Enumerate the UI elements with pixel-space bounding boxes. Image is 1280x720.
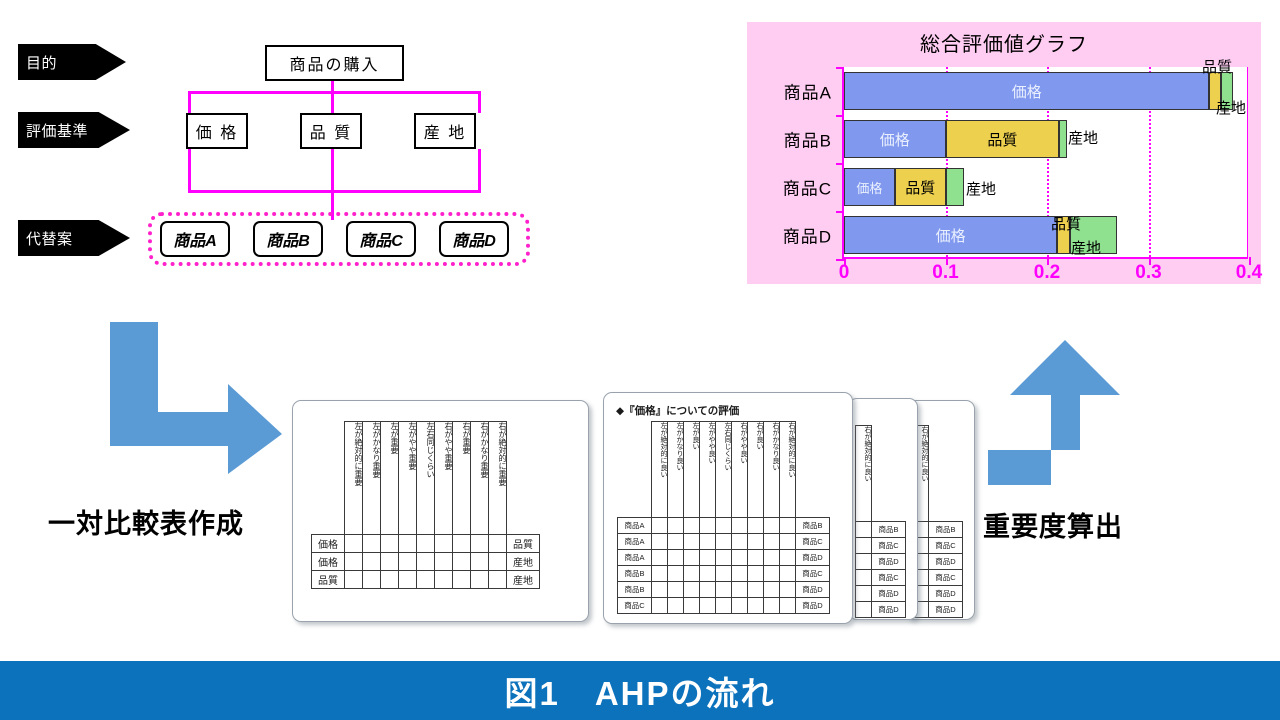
y-tick-4 [836, 259, 844, 261]
right-item-label: 商品D [929, 554, 963, 570]
rating-cell[interactable] [471, 571, 489, 589]
table-row[interactable]: 商品B 商品C [618, 566, 830, 582]
right-item-label: 産地 [507, 553, 540, 571]
left-item-label: 商品A [618, 550, 652, 566]
right-item-label: 商品D [872, 554, 906, 570]
left-item-label: 商品A [618, 518, 652, 534]
criteria-header-4: 左右同じくらい [417, 422, 435, 535]
chart-title: 総合評価値グラフ [747, 28, 1261, 57]
table-row[interactable]: 商品A 商品C [618, 534, 830, 550]
table-row[interactable]: 商品D [913, 602, 963, 618]
left-flow-label: 一対比較表作成 [48, 502, 244, 541]
table-row[interactable]: 商品C [913, 570, 963, 586]
y-tick-2 [836, 163, 844, 165]
criteria-header-1: 左がかなり重要 [363, 422, 381, 535]
stacked-card-back-2-table: 右が絶対的に良い 商品B 商品C 商品D 商品C 商品D 商品D [912, 425, 963, 618]
rating-cell[interactable] [780, 598, 796, 614]
bar-segment-c-quality-label: 品質 [905, 177, 935, 198]
level-tag-criteria: 評価基準 [18, 112, 130, 148]
left-item-header-spacer [618, 422, 652, 518]
node-criterion-price: 価 格 [186, 113, 248, 149]
bar-row-a: 価格 品質 産地 [844, 72, 1233, 110]
left-item-label: 商品B [618, 566, 652, 582]
rating-cell[interactable] [345, 553, 363, 571]
bar-segment-b-origin [1059, 120, 1067, 158]
rating-cell[interactable] [748, 550, 764, 566]
rating-cell[interactable] [435, 571, 453, 589]
table-row[interactable]: 商品C [913, 538, 963, 554]
rating-cell[interactable] [732, 582, 748, 598]
table-row[interactable]: 商品A 商品B [618, 518, 830, 534]
x-axis-label-2: 0.2 [1034, 262, 1060, 284]
rating-cell[interactable] [764, 550, 780, 566]
rating-cell[interactable] [652, 566, 668, 582]
right-item-label: 商品C [929, 570, 963, 586]
left-item-label: 価格 [312, 535, 345, 553]
bar-label-d-quality: 品質 [1051, 213, 1081, 234]
rating-cell[interactable] [471, 535, 489, 553]
node-alternative-c: 商品C [346, 221, 416, 257]
rating-cell[interactable] [668, 518, 684, 534]
rating-cell[interactable] [668, 598, 684, 614]
table-row[interactable]: 商品B [913, 522, 963, 538]
right-item-label: 商品D [929, 586, 963, 602]
y-tick-1 [836, 115, 844, 117]
node-criterion-quality: 品 質 [300, 113, 362, 149]
rating-cell[interactable] [716, 518, 732, 534]
alt-header-1: 左がかなり良い [668, 422, 684, 518]
rating-cell[interactable] [345, 571, 363, 589]
rating-cell[interactable] [716, 582, 732, 598]
rating-cell[interactable] [764, 582, 780, 598]
table-header-row: 左が絶対的に良い 左がかなり良い 左が良い 左がやや良い 左右同じくらい 右がや… [618, 422, 830, 518]
category-label-d: 商品D [783, 223, 832, 248]
rating-cell[interactable] [381, 553, 399, 571]
criteria-header-5: 右がやや重要 [435, 422, 453, 535]
rating-cell[interactable] [780, 582, 796, 598]
rating-cell[interactable] [856, 522, 872, 538]
rating-cell[interactable] [716, 534, 732, 550]
rating-cell[interactable] [764, 566, 780, 582]
rating-cell[interactable] [700, 518, 716, 534]
rating-cell[interactable] [652, 518, 668, 534]
rating-cell[interactable] [684, 518, 700, 534]
level-tag-goal: 目的 [18, 44, 126, 80]
bar-segment-a-price: 価格 [844, 72, 1209, 110]
rating-cell[interactable] [716, 598, 732, 614]
rating-cell[interactable] [489, 571, 507, 589]
criteria-header-8: 右が絶対的に重要 [489, 422, 507, 535]
table-row[interactable]: 商品C [856, 538, 906, 554]
rating-cell[interactable] [453, 571, 471, 589]
spacer-cell [872, 426, 906, 522]
rating-cell[interactable] [417, 535, 435, 553]
stacked-card-back-1[interactable]: 右が絶対的に良い 商品B 商品C 商品D 商品C 商品D 商品D [848, 398, 918, 620]
criteria-header-3: 左がやや重要 [399, 422, 417, 535]
rating-cell[interactable] [716, 566, 732, 582]
table-row[interactable]: 商品C 商品D [618, 598, 830, 614]
rating-cell[interactable] [453, 535, 471, 553]
table-row[interactable]: 商品B 商品D [618, 582, 830, 598]
rating-cell[interactable] [748, 534, 764, 550]
right-item-header-spacer [507, 422, 540, 535]
bar-segment-a-price-label: 価格 [1012, 81, 1042, 102]
alt-header-2: 左が良い [684, 422, 700, 518]
bar-segment-b-quality-label: 品質 [987, 129, 1017, 150]
table-row[interactable]: 価格 産地 [312, 553, 540, 571]
left-flow-arrow-icon [110, 322, 285, 474]
level-tag-criteria-label: 評価基準 [26, 120, 88, 141]
bar-label-d-origin: 産地 [1071, 237, 1101, 258]
chart-plot-area: 商品A 商品B 商品C 商品D 価格 品質 産地 価格 品質 産地 [842, 67, 1248, 259]
rating-cell[interactable] [748, 598, 764, 614]
rating-cell[interactable] [684, 566, 700, 582]
bar-segment-b-price-label: 価格 [880, 129, 910, 150]
rating-cell[interactable] [417, 553, 435, 571]
rating-cell[interactable] [856, 602, 872, 618]
rating-cell[interactable] [652, 550, 668, 566]
category-label-a: 商品A [784, 79, 832, 104]
alt-header-0: 左が絶対的に良い [652, 422, 668, 518]
alt-header-5: 右がやや良い [732, 422, 748, 518]
rating-cell[interactable] [700, 534, 716, 550]
rating-cell[interactable] [732, 550, 748, 566]
alt-header-7: 右がかなり良い [764, 422, 780, 518]
right-item-label: 商品D [796, 582, 830, 598]
figure-banner: 図1 AHPの流れ [0, 661, 1280, 720]
bar-label-a-origin: 産地 [1216, 97, 1246, 118]
y-tick-3 [836, 211, 844, 213]
link-origin-down [478, 149, 481, 193]
rating-cell[interactable] [732, 518, 748, 534]
table-header-row: 左が絶対的に重要 左がかなり重要 左が重要 左がやや重要 左右同じくらい 右がや… [312, 422, 540, 535]
rating-cell[interactable] [732, 534, 748, 550]
bar-label-b-origin: 産地 [1068, 127, 1098, 148]
bar-segment-c-quality: 品質 [895, 168, 946, 206]
node-criterion-origin-label: 産 地 [424, 119, 466, 143]
rating-cell[interactable] [748, 582, 764, 598]
link-bus-to-origin [478, 91, 481, 113]
rating-cell[interactable] [780, 566, 796, 582]
alt-header-3: 左がやや良い [700, 422, 716, 518]
node-alternative-b-label: 商品B [266, 227, 310, 251]
category-label-c: 商品C [783, 175, 832, 200]
alt-header-4: 左右同じくらい [716, 422, 732, 518]
rating-cell[interactable] [856, 570, 872, 586]
alt-header-8: 右が絶対的に良い [780, 422, 796, 518]
right-item-label: 商品D [872, 586, 906, 602]
rating-cell[interactable] [489, 553, 507, 571]
node-alternative-a-label: 商品A [173, 227, 217, 251]
bar-row-c: 価格 品質 産地 [844, 168, 963, 206]
node-alternative-d: 商品D [439, 221, 509, 257]
rating-cell[interactable] [668, 566, 684, 582]
rating-cell[interactable] [399, 535, 417, 553]
table-row: 右が絶対的に良い [856, 426, 906, 522]
left-item-label: 商品C [618, 598, 652, 614]
right-item-label: 商品C [872, 538, 906, 554]
rating-cell[interactable] [668, 534, 684, 550]
link-price-down [188, 149, 191, 193]
rating-cell[interactable] [345, 535, 363, 553]
bar-segment-c-price-label: 価格 [856, 178, 882, 197]
rating-cell[interactable] [453, 553, 471, 571]
node-alternative-c-label: 商品C [359, 227, 403, 251]
link-criteria-bus-top [188, 91, 481, 94]
alternative-card-title: ◆『価格』についての評価 [616, 403, 739, 418]
rating-cell[interactable] [435, 535, 453, 553]
right-item-label: 商品C [796, 534, 830, 550]
node-goal: 商品の購入 [265, 45, 404, 81]
right-flow-label: 重要度算出 [983, 505, 1123, 544]
right-item-label: 商品B [929, 522, 963, 538]
table-row[interactable]: 商品B [856, 522, 906, 538]
rating-cell[interactable] [764, 534, 780, 550]
rating-cell[interactable] [668, 582, 684, 598]
rating-cell[interactable] [700, 582, 716, 598]
figure-banner-title: 図1 AHPの流れ [504, 667, 775, 715]
rating-cell[interactable] [684, 582, 700, 598]
rating-cell[interactable] [489, 535, 507, 553]
rating-cell[interactable] [399, 571, 417, 589]
y-tick-0 [836, 67, 844, 69]
x-axis-label-0: 0 [839, 262, 850, 284]
rating-cell[interactable] [716, 550, 732, 566]
node-goal-label: 商品の購入 [289, 51, 379, 75]
rating-cell[interactable] [668, 550, 684, 566]
criteria-comparison-table: 左が絶対的に重要 左がかなり重要 左が重要 左がやや重要 左右同じくらい 右がや… [311, 421, 540, 589]
right-item-header-spacer [796, 422, 830, 518]
left-item-label: 品質 [312, 571, 345, 589]
node-criterion-quality-label: 品 質 [310, 119, 352, 143]
x-axis-label-4: 0.4 [1236, 262, 1262, 284]
alt-header-6: 右が良い [748, 422, 764, 518]
right-item-label: 商品B [796, 518, 830, 534]
rating-cell[interactable] [732, 598, 748, 614]
rating-cell[interactable] [435, 553, 453, 571]
bar-row-b: 価格 品質 産地 [844, 120, 1067, 158]
rating-cell[interactable] [700, 566, 716, 582]
left-item-label: 価格 [312, 553, 345, 571]
table-row[interactable]: 商品C [856, 570, 906, 586]
right-item-label: 商品B [872, 522, 906, 538]
level-tag-goal-label: 目的 [26, 52, 57, 73]
rating-cell[interactable] [471, 553, 489, 571]
criteria-header-2: 左が重要 [381, 422, 399, 535]
left-item-label: 商品B [618, 582, 652, 598]
rating-cell[interactable] [764, 598, 780, 614]
right-item-label: 商品D [796, 598, 830, 614]
right-item-label: 産地 [507, 571, 540, 589]
right-item-label: 商品D [872, 602, 906, 618]
rating-cell[interactable] [652, 534, 668, 550]
bar-label-a-quality: 品質 [1202, 56, 1232, 77]
x-axis-label-3: 0.3 [1135, 262, 1161, 284]
right-item-label: 商品C [796, 566, 830, 582]
rating-cell[interactable] [780, 518, 796, 534]
bar-segment-c-price: 価格 [844, 168, 895, 206]
link-criteria-bus-bottom [188, 190, 481, 193]
spacer-cell [929, 426, 963, 522]
bar-label-c-origin: 産地 [966, 178, 996, 199]
rating-cell[interactable] [856, 554, 872, 570]
right-item-label: 品質 [507, 535, 540, 553]
node-alternative-b: 商品B [253, 221, 323, 257]
criteria-header-0: 左が絶対的に重要 [345, 422, 363, 535]
alternative-comparison-table: 左が絶対的に良い 左がかなり良い 左が良い 左がやや良い 左右同じくらい 右がや… [617, 421, 830, 614]
table-row[interactable]: 商品A 商品D [618, 550, 830, 566]
level-tag-alternatives-label: 代替案 [26, 228, 73, 249]
category-label-b: 商品B [784, 127, 832, 152]
left-item-header-spacer [312, 422, 345, 535]
rating-cell[interactable] [381, 571, 399, 589]
node-criterion-price-label: 価 格 [196, 119, 238, 143]
bar-segment-b-quality: 品質 [946, 120, 1060, 158]
criteria-header-7: 右がかなり重要 [471, 422, 489, 535]
overall-evaluation-chart: 総合評価値グラフ 商品A 商品B 商品C 商品D 価格 品質 産地 [747, 22, 1261, 284]
node-criterion-origin: 産 地 [414, 113, 476, 149]
rating-cell[interactable] [684, 550, 700, 566]
rating-cell[interactable] [684, 598, 700, 614]
rating-cell[interactable] [684, 534, 700, 550]
left-item-label: 商品A [618, 534, 652, 550]
table-row[interactable]: 価格 品質 [312, 535, 540, 553]
node-alternative-d-label: 商品D [452, 227, 496, 251]
rating-cell[interactable] [700, 550, 716, 566]
rating-cell[interactable] [856, 538, 872, 554]
table-row[interactable]: 商品D [856, 554, 906, 570]
x-axis-label-1: 0.1 [932, 262, 958, 284]
table-row[interactable]: 商品D [856, 586, 906, 602]
rating-cell[interactable] [363, 553, 381, 571]
rating-cell[interactable] [399, 553, 417, 571]
rating-cell[interactable] [363, 535, 381, 553]
bar-segment-d-price: 価格 [844, 216, 1057, 254]
criteria-comparison-card[interactable]: 左が絶対的に重要 左がかなり重要 左が重要 左がやや重要 左右同じくらい 右がや… [292, 400, 589, 622]
bar-segment-b-price: 価格 [844, 120, 946, 158]
rating-cell[interactable] [748, 566, 764, 582]
right-item-label: 商品C [929, 538, 963, 554]
rating-cell[interactable] [363, 571, 381, 589]
stacked-card-header-cell: 右が絶対的に良い [856, 426, 872, 522]
rating-cell[interactable] [780, 534, 796, 550]
rating-cell[interactable] [764, 518, 780, 534]
stacked-card-back-1-table: 右が絶対的に良い 商品B 商品C 商品D 商品C 商品D 商品D [855, 425, 906, 618]
alternative-comparison-card[interactable]: ◆『価格』についての評価 左が絶対的に良い 左がかなり良い 左が良い 左がやや良… [603, 392, 853, 624]
bar-row-d: 価格 品質 産地 [844, 216, 1117, 254]
rating-cell[interactable] [381, 535, 399, 553]
rating-cell[interactable] [652, 598, 668, 614]
bar-segment-d-price-label: 価格 [936, 225, 966, 246]
rating-cell[interactable] [780, 550, 796, 566]
rating-cell[interactable] [417, 571, 435, 589]
table-row[interactable]: 商品D [856, 602, 906, 618]
rating-cell[interactable] [652, 582, 668, 598]
bar-segment-c-origin [946, 168, 964, 206]
link-bus-to-price [188, 91, 191, 113]
criteria-header-6: 右が重要 [453, 422, 471, 535]
right-item-label: 商品D [796, 550, 830, 566]
hierarchy-diagram: 目的 評価基準 代替案 商品の購入 価 格 品 質 産 地 商品A 商品B 商品… [0, 0, 600, 300]
right-item-label: 商品D [929, 602, 963, 618]
level-tag-alternatives: 代替案 [18, 220, 130, 256]
rating-cell[interactable] [732, 566, 748, 582]
rating-cell[interactable] [856, 586, 872, 602]
rating-cell[interactable] [700, 598, 716, 614]
node-alternative-a: 商品A [160, 221, 230, 257]
table-row: 右が絶対的に良い [913, 426, 963, 522]
table-row[interactable]: 商品D [913, 554, 963, 570]
right-flow-arrow-icon [988, 340, 1143, 485]
rating-cell[interactable] [748, 518, 764, 534]
table-row[interactable]: 品質 産地 [312, 571, 540, 589]
table-row[interactable]: 商品D [913, 586, 963, 602]
right-item-label: 商品C [872, 570, 906, 586]
